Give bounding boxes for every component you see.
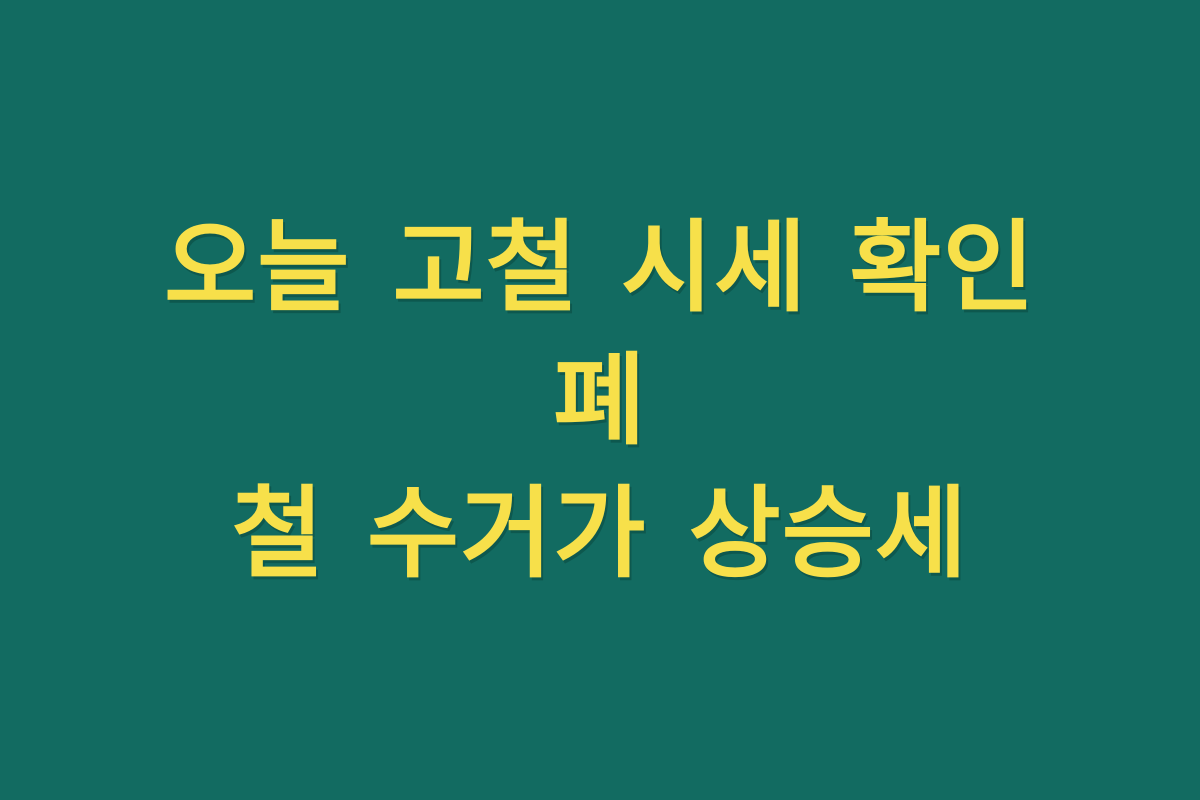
page-title: 오늘 고철 시세 확인 폐 철 수거가 상승세 [100, 201, 1100, 600]
banner-canvas: 오늘 고철 시세 확인 폐 철 수거가 상승세 [0, 0, 1200, 800]
